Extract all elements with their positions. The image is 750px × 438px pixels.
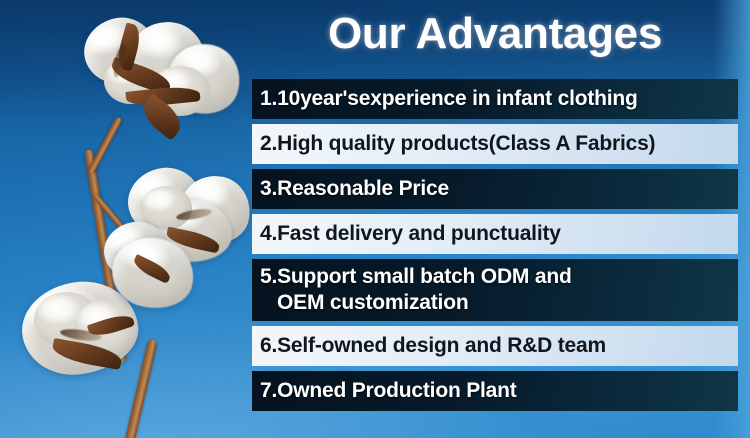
advantage-item-6-text: 6.Self-owned design and R&D team [260, 333, 730, 359]
cotton-boll-top-left [77, 10, 162, 90]
cotton-bract-mid [165, 227, 221, 254]
cotton-crease-top [111, 43, 129, 78]
cotton-bract-bottom-c [131, 254, 173, 284]
cotton-boll-bottom-main [18, 276, 143, 380]
cotton-bract-bottom-a [51, 338, 123, 370]
advantage-item-5-text-line2: OEM customization [260, 290, 730, 316]
cotton-lobe-bottom-a [34, 292, 100, 348]
cotton-stem-upper-branch [87, 116, 122, 174]
cotton-bract-top-c [114, 22, 144, 71]
cotton-bract-bottom-b [87, 311, 135, 339]
cotton-lobe-bottom-b [74, 300, 136, 356]
advantage-item-5: 5.Support small batch ODM and OEM custom… [252, 259, 738, 321]
advantage-item-5-text-line1: 5.Support small batch ODM and [260, 264, 730, 290]
cotton-bract-top-a [108, 57, 173, 95]
cotton-bract-top-d [137, 93, 188, 141]
cotton-boll-mid-right [174, 169, 257, 250]
advantages-banner: Our Advantages 1.10year'sexperience in i… [0, 0, 750, 438]
advantage-item-1: 1.10year'sexperience in infant clothing [252, 79, 738, 119]
cotton-stem-hook [93, 193, 132, 238]
cotton-bract-top-b [125, 84, 200, 109]
cotton-lobe-mid-a [140, 186, 192, 230]
cotton-stem-main [84, 149, 127, 363]
cotton-lobe-top-b [150, 66, 210, 116]
advantage-item-7-text: 7.Owned Production Plant [260, 378, 730, 404]
cotton-boll-bottom-upper [100, 217, 173, 283]
advantage-item-7: 7.Owned Production Plant [252, 371, 738, 411]
advantage-item-2: 2.High quality products(Class A Fabrics) [252, 124, 738, 164]
cotton-lobe-top-a [104, 58, 158, 104]
advantage-item-6: 6.Self-owned design and R&D team [252, 326, 738, 366]
cotton-crease-bottom [60, 327, 103, 343]
advantage-item-4: 4.Fast delivery and punctuality [252, 214, 738, 254]
advantages-list: 1.10year'sexperience in infant clothing … [252, 79, 738, 416]
advantage-item-4-text: 4.Fast delivery and punctuality [260, 221, 730, 247]
page-title: Our Advantages [252, 2, 738, 66]
cotton-boll-top-center [123, 17, 211, 103]
cotton-boll-mid-left [124, 163, 206, 239]
advantage-item-3: 3.Reasonable Price [252, 169, 738, 209]
advantage-item-3-text: 3.Reasonable Price [260, 176, 730, 202]
advantage-item-2-text: 2.High quality products(Class A Fabrics) [260, 131, 730, 157]
advantage-item-1-text: 1.10year'sexperience in infant clothing [260, 86, 730, 112]
cotton-boll-bottom-right [105, 229, 201, 317]
cotton-crease-mid [175, 207, 212, 222]
cotton-boll-mid-front [150, 197, 234, 264]
cotton-boll-top-right [159, 35, 249, 124]
cotton-stem-lower [125, 339, 158, 438]
